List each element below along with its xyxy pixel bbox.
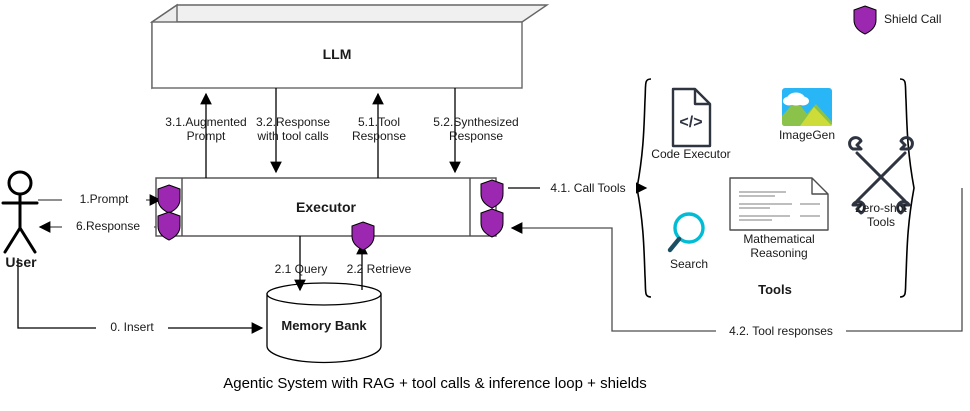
tool-label-zero-shot-tools: Zero-shot Tools bbox=[841, 201, 921, 229]
edge-label-1-prompt: 1.Prompt bbox=[62, 192, 146, 206]
edge-label-2-1-query: 2.1 Query bbox=[266, 262, 336, 276]
tool-label-math-reasoning: Mathematical Reasoning bbox=[729, 232, 829, 260]
legend-label: Shield Call bbox=[884, 12, 970, 26]
edge-label-4-1-call-tools: 4.1. Call Tools bbox=[540, 181, 636, 195]
tool-label-search: Search bbox=[659, 257, 719, 271]
edge-label-6-response: 6.Response bbox=[62, 219, 154, 233]
edge-label-5-2: 5.2.Synthesized Response bbox=[421, 115, 531, 143]
edge-label-4-2-tool-responses: 4.2. Tool responses bbox=[716, 324, 846, 338]
tool-label-code-executor: Code Executor bbox=[645, 147, 737, 161]
shield-icon-executor-memory bbox=[352, 222, 374, 250]
diagram-caption: Agentic System with RAG + tool calls & i… bbox=[0, 375, 870, 392]
executor-label: Executor bbox=[182, 200, 470, 214]
user-label: User bbox=[0, 255, 42, 269]
code-document-icon[interactable]: </> bbox=[673, 89, 710, 146]
edge-label-0-insert: 0. Insert bbox=[96, 320, 168, 334]
magnifier-icon[interactable] bbox=[670, 214, 703, 250]
user-node[interactable] bbox=[3, 172, 37, 252]
image-gen-icon[interactable] bbox=[782, 88, 832, 126]
edge-label-5-1: 5.1.Tool Response bbox=[339, 115, 419, 143]
llm-label: LLM bbox=[152, 47, 522, 61]
math-document-icon[interactable] bbox=[730, 178, 828, 230]
edge-0-insert bbox=[18, 258, 262, 328]
edge-label-3-2: 3.2.Response with tool calls bbox=[234, 115, 352, 143]
memory-bank-label: Memory Bank bbox=[267, 319, 381, 333]
edge-label-2-2-retrieve: 2.2 Retrieve bbox=[336, 262, 422, 276]
tools-group-label: Tools bbox=[715, 283, 835, 297]
tool-label-imagegen: ImageGen bbox=[772, 128, 842, 142]
shield-icon-legend bbox=[854, 6, 876, 34]
svg-text:</>: </> bbox=[679, 114, 702, 131]
